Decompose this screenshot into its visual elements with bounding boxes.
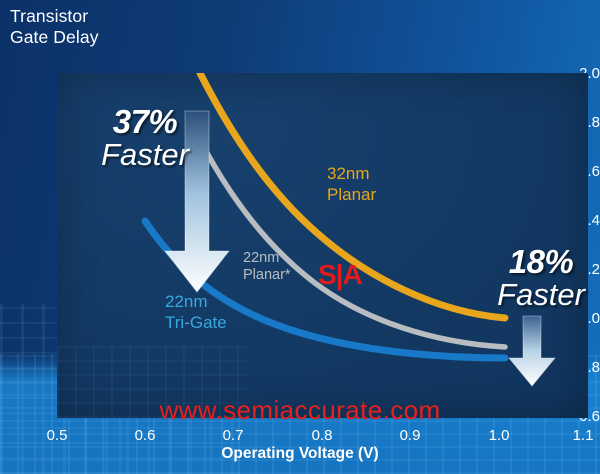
callout-left-word: Faster <box>85 138 205 172</box>
callout-left-percent: 37% <box>85 105 205 138</box>
callout-right: 18% Faster <box>489 245 593 312</box>
chart-image: Transistor Gate Delay 2.0 1.8 1.6 1.4 1.… <box>0 0 600 474</box>
x-tick-label: 0.7 <box>211 428 255 443</box>
callout-right-percent: 18% <box>489 245 593 278</box>
x-tick-label: 0.8 <box>300 428 344 443</box>
url-watermark: www.semiaccurate.com <box>0 395 600 426</box>
page-title: Transistor Gate Delay <box>10 6 99 48</box>
down-arrow-small-icon <box>509 316 555 386</box>
semiaccurate-logo-watermark: S|A <box>318 259 362 291</box>
x-tick-label: 0.6 <box>123 428 167 443</box>
series-label-22nm-tri-gate: 22nm Tri-Gate <box>165 291 227 333</box>
x-tick-label: 0.9 <box>388 428 432 443</box>
series-label-32nm-planar: 32nm Planar <box>327 163 376 205</box>
callout-right-word: Faster <box>489 278 593 312</box>
x-tick-label: 1.1 <box>561 428 600 443</box>
callout-left: 37% Faster <box>85 105 205 172</box>
x-axis-title: Operating Voltage (V) <box>0 445 600 463</box>
series-label-22nm-planar: 22nm Planar* <box>243 250 291 284</box>
x-tick-label: 0.5 <box>35 428 79 443</box>
x-tick-label: 1.0 <box>477 428 521 443</box>
